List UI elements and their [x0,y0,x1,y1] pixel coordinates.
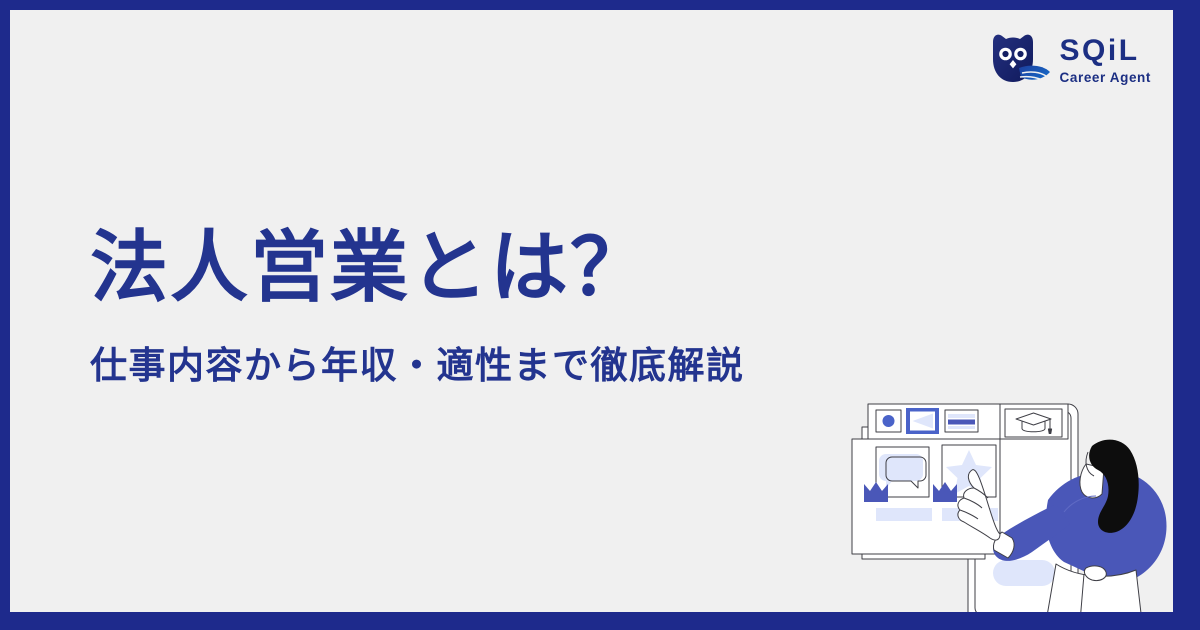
poster-canvas: SQiL Career Agent 法人営業とは？ 仕事内容から年収・適性まで徹… [10,10,1173,612]
pill-placeholder [993,560,1055,586]
poster-frame: SQiL Career Agent 法人営業とは？ 仕事内容から年収・適性まで徹… [0,0,1200,630]
page-title: 法人営業とは？ [90,224,745,311]
brand-logo: SQiL Career Agent [989,32,1151,88]
brand-name: SQiL [1060,36,1151,66]
owl-logo-icon [989,32,1051,88]
brand-wordmark: SQiL Career Agent [1060,36,1151,85]
headline-block: 法人営業とは？ 仕事内容から年収・適性まで徹底解説 [90,224,745,389]
page-subtitle: 仕事内容から年収・適性まで徹底解説 [90,335,745,389]
hero-illustration [850,392,1173,612]
brand-tagline: Career Agent [1060,71,1151,85]
